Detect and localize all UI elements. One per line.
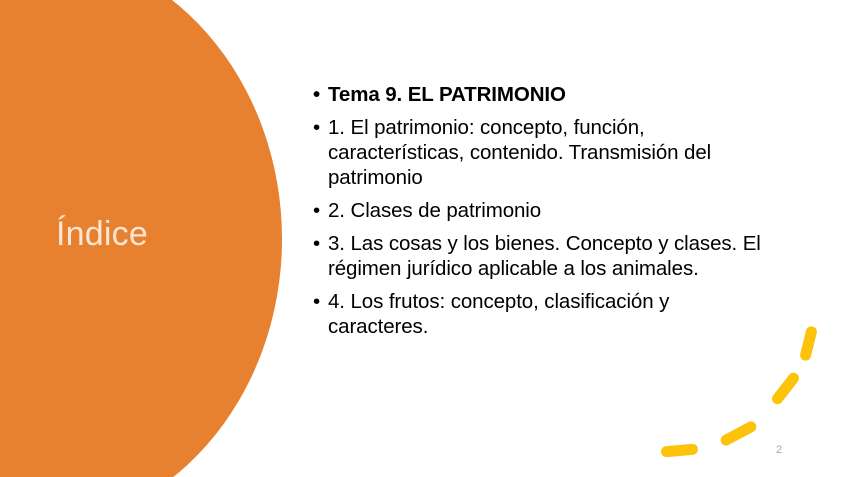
list-item: • Tema 9. EL PATRIMONIO xyxy=(312,82,774,107)
gold-dash-decoration xyxy=(799,325,818,362)
gold-dash-decoration xyxy=(719,419,759,447)
bullet-list: • Tema 9. EL PATRIMONIO • 1. El patrimon… xyxy=(312,82,774,339)
presentation-slide: Índice • Tema 9. EL PATRIMONIO • 1. El p… xyxy=(0,0,848,477)
bullet-dot-icon: • xyxy=(313,198,320,223)
list-item: • 4. Los frutos: concepto, clasificación… xyxy=(312,289,774,339)
list-item-text: 2. Clases de patrimonio xyxy=(328,198,774,223)
slide-page-number: 2 xyxy=(770,443,788,457)
gold-dash-decoration xyxy=(661,443,699,457)
list-item: • 1. El patrimonio: concepto, función, c… xyxy=(312,115,774,190)
list-item-text: 3. Las cosas y los bienes. Concepto y cl… xyxy=(328,231,774,281)
bullet-dot-icon: • xyxy=(313,289,320,314)
list-item-text: Tema 9. EL PATRIMONIO xyxy=(328,82,774,107)
bullet-dot-icon: • xyxy=(313,82,320,107)
list-item: • 2. Clases de patrimonio xyxy=(312,198,774,223)
slide-title: Índice xyxy=(56,214,266,254)
list-item: • 3. Las cosas y los bienes. Concepto y … xyxy=(312,231,774,281)
list-item-text: 1. El patrimonio: concepto, función, car… xyxy=(328,115,774,190)
bullet-dot-icon: • xyxy=(313,115,320,140)
gold-dash-decoration xyxy=(770,371,801,407)
list-item-text: 4. Los frutos: concepto, clasificación y… xyxy=(328,289,774,339)
bullet-dot-icon: • xyxy=(313,231,320,256)
